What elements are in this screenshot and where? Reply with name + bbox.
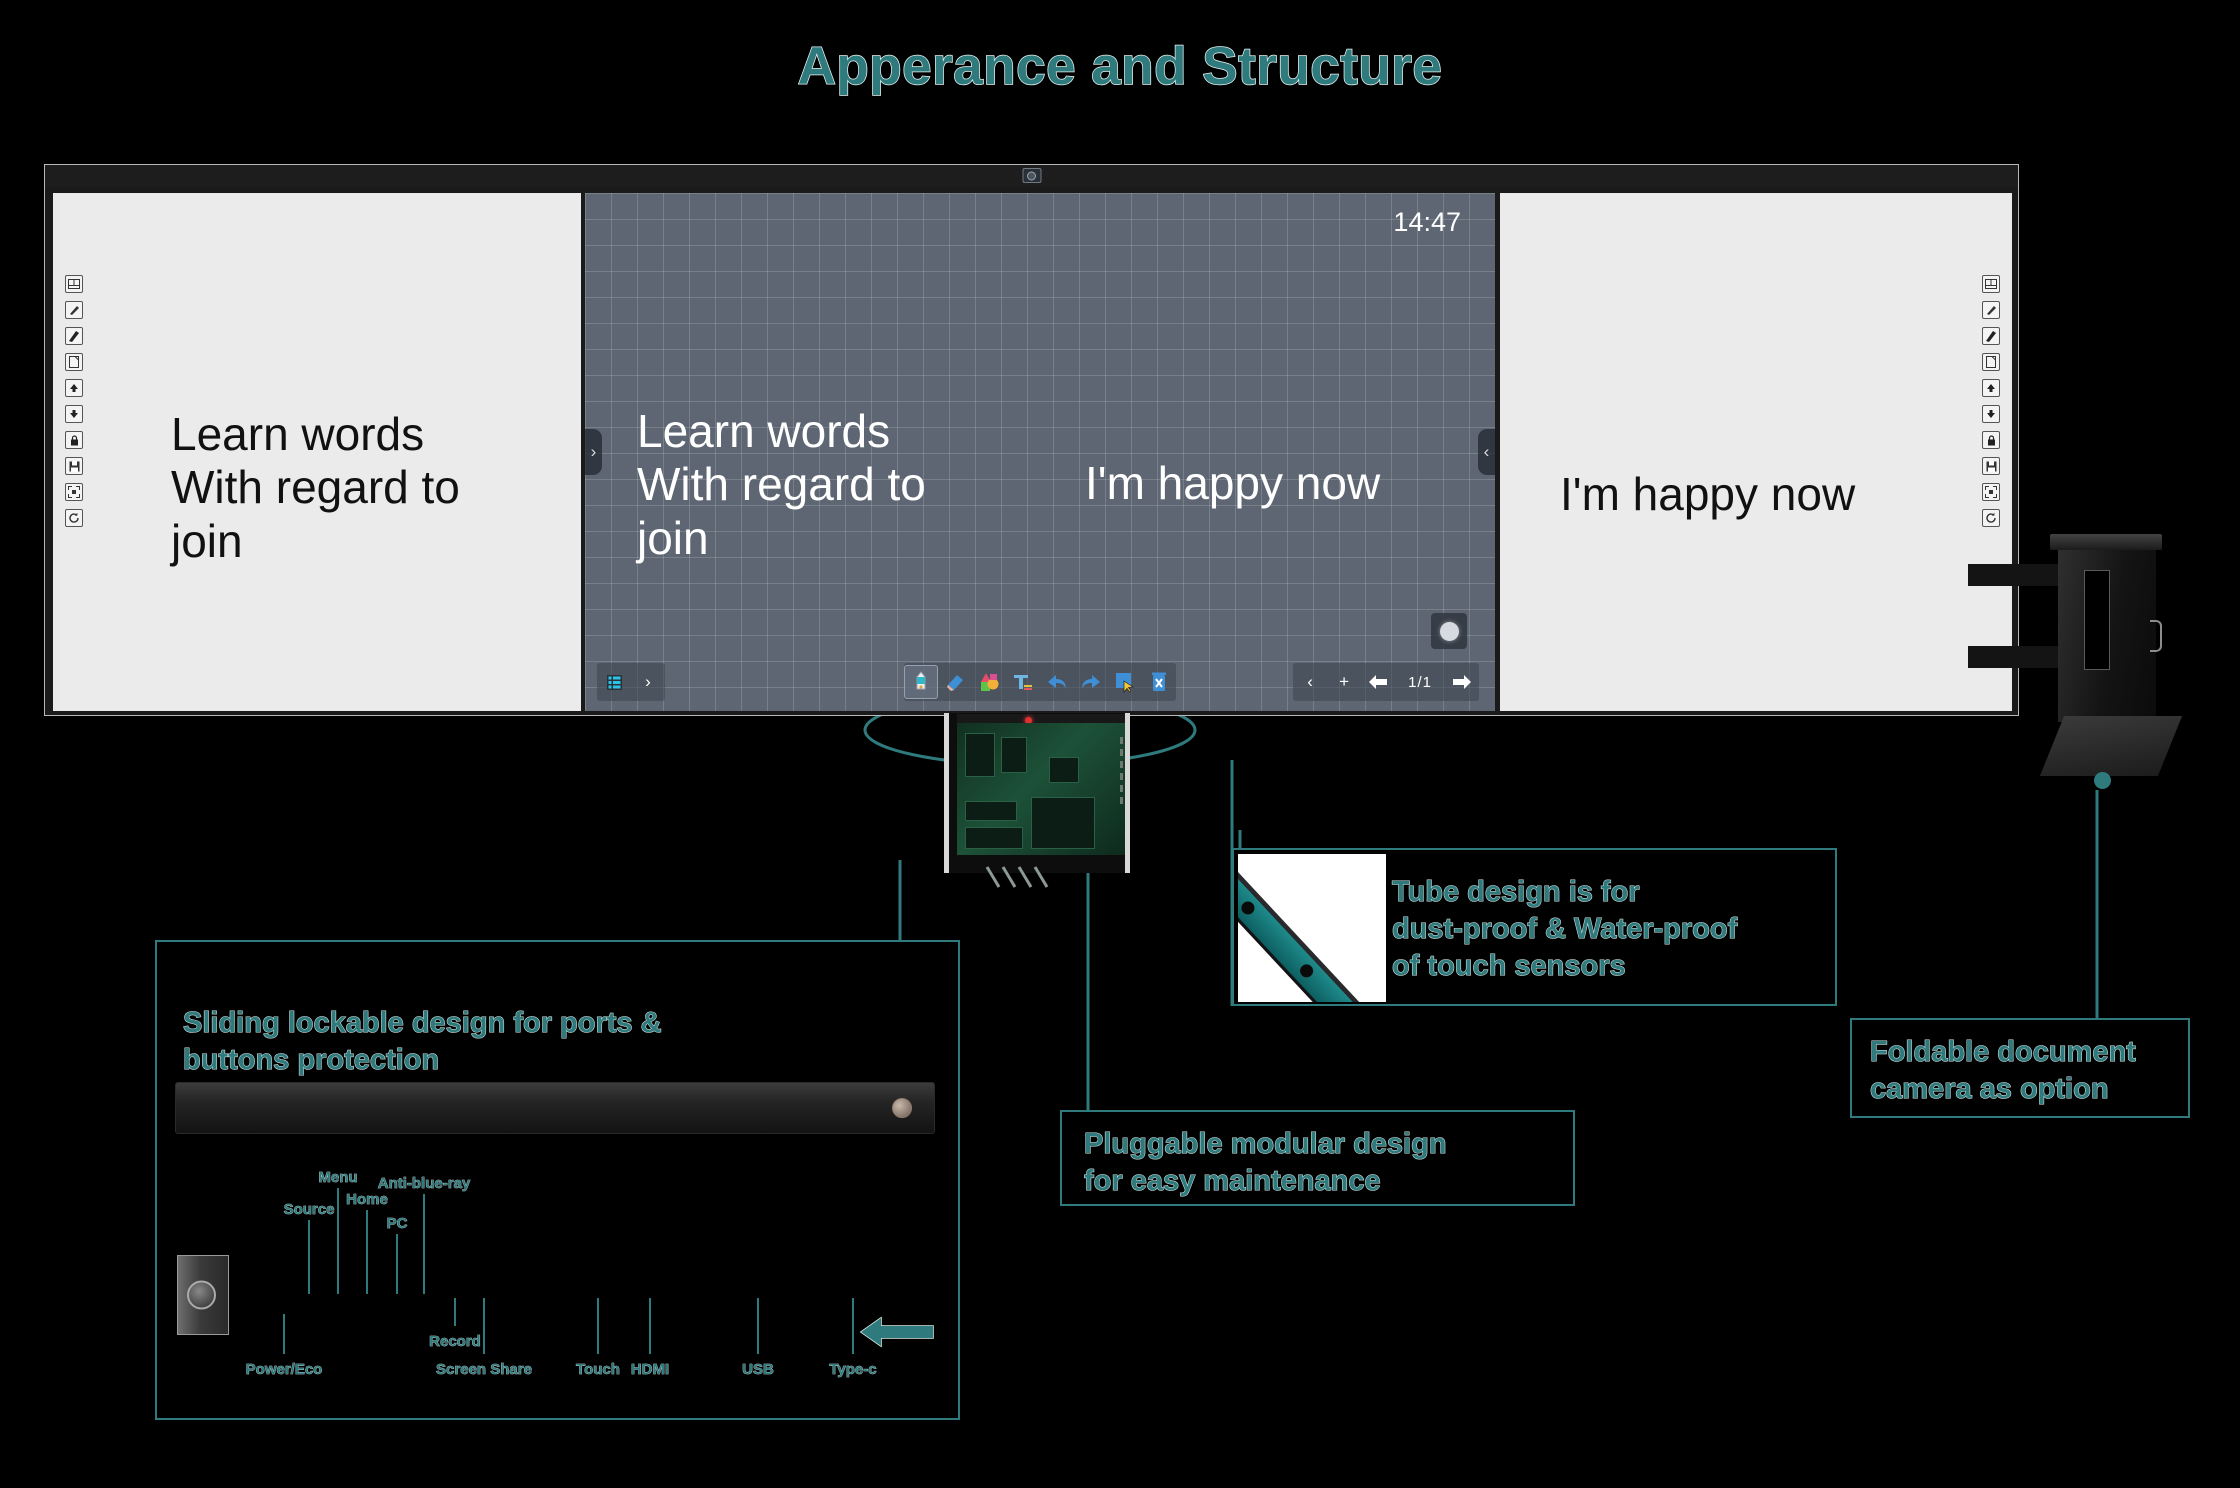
page-indicator: 1/1 <box>1395 674 1445 691</box>
canvas-drag-handle[interactable] <box>1431 613 1467 649</box>
marker-icon[interactable] <box>1982 327 2000 345</box>
lock-icon[interactable] <box>1982 431 2000 449</box>
arrow-up-icon[interactable] <box>65 379 83 397</box>
pen-write-icon[interactable] <box>1982 301 2000 319</box>
center-screen-panel: 14:47 › ‹ Learn words With regard to joi… <box>585 193 1495 711</box>
toolbar-left-group: › <box>597 663 665 701</box>
callout-tube-text: Tube design is for dust-proof & Water-pr… <box>1392 874 1737 985</box>
port-label-menu: Menu <box>318 1168 357 1187</box>
save-icon[interactable] <box>1982 457 2000 475</box>
redo-icon[interactable] <box>1074 665 1108 699</box>
pen-write-icon[interactable] <box>65 301 83 319</box>
port-label-touch: Touch <box>576 1360 620 1379</box>
text-icon[interactable] <box>1006 665 1040 699</box>
port-label-record: Record <box>429 1332 481 1351</box>
canvas-text-right: I'm happy now <box>1085 456 1380 510</box>
marker-icon[interactable] <box>65 327 83 345</box>
port-label-hdmi: HDMI <box>631 1360 669 1379</box>
whiteboard-surface-left[interactable]: Learn words With regard to join <box>53 193 581 711</box>
port-label-anti-blue-ray: Anti-blue-ray <box>378 1174 471 1193</box>
camera-mount-arm-upper <box>1968 564 2060 586</box>
left-panel-text: Learn words With regard to join <box>171 408 460 568</box>
callout-ports-text: Sliding lockable design for ports & butt… <box>183 1005 958 1079</box>
clock: 14:47 <box>1393 207 1461 238</box>
nav-prev-chevron-icon[interactable]: ‹ <box>1293 665 1327 699</box>
sliding-port-cover-bar <box>175 1082 935 1134</box>
lock-icon[interactable] <box>65 431 83 449</box>
whiteboard-canvas[interactable]: 14:47 › ‹ Learn words With regard to joi… <box>585 193 1495 711</box>
port-label-power-eco: Power/Eco <box>246 1360 323 1379</box>
port-label-pc: PC <box>387 1214 408 1233</box>
nav-next-arrow-icon[interactable] <box>1445 665 1479 699</box>
callout-document-camera: Foldable document camera as option <box>1850 1018 2190 1118</box>
camera-fold-out-tray <box>2040 716 2182 776</box>
camera-lens-slot <box>2084 570 2110 670</box>
whiteboard-toolbar: › <box>585 663 1495 701</box>
camera-top-cap <box>2050 534 2162 550</box>
toolbar-page-nav: ‹ + 1/1 <box>1293 663 1479 701</box>
nav-add-page-button[interactable]: + <box>1327 665 1361 699</box>
page-icon[interactable] <box>1982 353 2000 371</box>
pen-icon[interactable] <box>904 665 938 699</box>
left-arrow-icon <box>857 1314 937 1350</box>
shapes-icon[interactable] <box>972 665 1006 699</box>
window-split-icon[interactable] <box>65 275 83 293</box>
arrow-down-icon[interactable] <box>1982 405 2000 423</box>
port-label-screen-share: Screen Share <box>436 1360 532 1379</box>
camera-mount-arm-lower <box>1968 646 2060 668</box>
callout-tube-design: Tube design is for dust-proof & Water-pr… <box>1232 848 1837 1006</box>
list-menu-icon[interactable] <box>597 665 631 699</box>
port-label-usb: USB <box>742 1360 774 1379</box>
right-panel-text: I'm happy now <box>1560 468 1855 521</box>
page-title: Apperance and Structure <box>0 36 2240 97</box>
canvas-text-left: Learn words With regard to join <box>637 405 926 565</box>
canvas-chevron-left-icon[interactable]: › <box>585 429 602 475</box>
right-whiteboard-panel: I'm happy now <box>1500 193 2012 711</box>
tube-sensor-strip <box>1238 864 1381 1002</box>
interactive-display: Learn words With regard to join 14:47 › … <box>44 164 2019 716</box>
toolbar-tools-group <box>904 663 1176 701</box>
save-icon[interactable] <box>65 457 83 475</box>
fullscreen-icon[interactable] <box>65 483 83 501</box>
bezel-camera-icon <box>1022 168 1041 183</box>
page-icon[interactable] <box>65 353 83 371</box>
right-icon-rail <box>1982 275 2000 527</box>
left-whiteboard-panel: Learn words With regard to join <box>53 193 581 711</box>
callout-sliding-ports: Sliding lockable design for ports & butt… <box>155 940 960 1420</box>
arrow-down-icon[interactable] <box>65 405 83 423</box>
lock-screw-icon <box>892 1098 912 1118</box>
power-button-photo <box>177 1255 229 1335</box>
refresh-icon[interactable] <box>1982 509 2000 527</box>
chevron-right-icon[interactable]: › <box>631 665 665 699</box>
window-split-icon[interactable] <box>1982 275 2000 293</box>
undo-icon[interactable] <box>1040 665 1074 699</box>
refresh-icon[interactable] <box>65 509 83 527</box>
nav-prev-arrow-icon[interactable] <box>1361 665 1395 699</box>
arrow-up-icon[interactable] <box>1982 379 2000 397</box>
callout-modular-design: Pluggable modular design for easy mainte… <box>1060 1110 1575 1206</box>
whiteboard-surface-right[interactable]: I'm happy now <box>1500 193 2012 711</box>
delete-icon[interactable] <box>1142 665 1176 699</box>
eraser-icon[interactable] <box>938 665 972 699</box>
canvas-chevron-right-icon[interactable]: ‹ <box>1478 429 1495 475</box>
left-icon-rail <box>65 275 83 527</box>
document-camera-photo <box>2032 520 2182 810</box>
top-bezel <box>45 165 2018 187</box>
select-icon[interactable] <box>1108 665 1142 699</box>
touch-sensor-tube-photo <box>1238 854 1386 1002</box>
fullscreen-icon[interactable] <box>1982 483 2000 501</box>
pluggable-pc-module-photo <box>944 713 1130 873</box>
port-label-type-c: Type-c <box>829 1360 876 1379</box>
camera-handle <box>2150 620 2162 652</box>
camera-leader-dot <box>2094 772 2111 789</box>
port-label-source: Source <box>284 1200 335 1219</box>
module-connector-legs <box>985 865 1095 891</box>
module-circuit-board <box>957 723 1125 855</box>
